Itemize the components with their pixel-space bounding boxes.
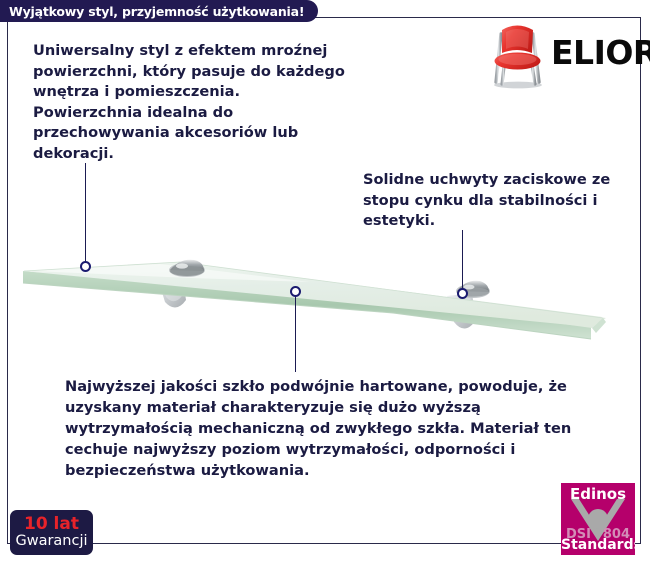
- shelf-glass-panel: [23, 262, 606, 339]
- leader-line-surface: [85, 163, 86, 263]
- brand-logo: ELIOR: [487, 20, 635, 90]
- certification-badge: Edinos DSI 804 Standards: [561, 483, 635, 555]
- callout-marker-bracket: [457, 288, 468, 299]
- warranty-years: 10 lat: [24, 515, 79, 533]
- leader-line-glass: [295, 296, 296, 372]
- certification-subtitle: Standards: [561, 537, 635, 553]
- certification-title: Edinos: [561, 485, 635, 503]
- product-infographic: Wyjątkowy styl, przyjemność użytkowania!…: [0, 0, 650, 564]
- callout-text-tempered-glass: Najwyższej jakości szkło podwójnie harto…: [65, 376, 585, 481]
- leader-line-bracket: [462, 230, 463, 292]
- callout-marker-surface: [80, 261, 91, 272]
- header-banner: Wyjątkowy styl, przyjemność użytkowania!: [0, 0, 318, 22]
- warranty-badge: 10 lat Gwarancji: [10, 510, 93, 555]
- red-chair-icon: [487, 20, 547, 90]
- callout-marker-glass: [290, 286, 301, 297]
- glass-shelf-product-image: [10, 240, 610, 365]
- warranty-label: Gwarancji: [15, 533, 87, 550]
- header-banner-text: Wyjątkowy styl, przyjemność użytkowania!: [9, 4, 304, 19]
- brand-name: ELIOR: [551, 33, 650, 72]
- callout-text-brackets: Solidne uchwyty zaciskowe ze stopu cynku…: [363, 170, 625, 232]
- callout-text-surface-style: Uniwersalny styl z efektem mroźnej powie…: [33, 41, 353, 164]
